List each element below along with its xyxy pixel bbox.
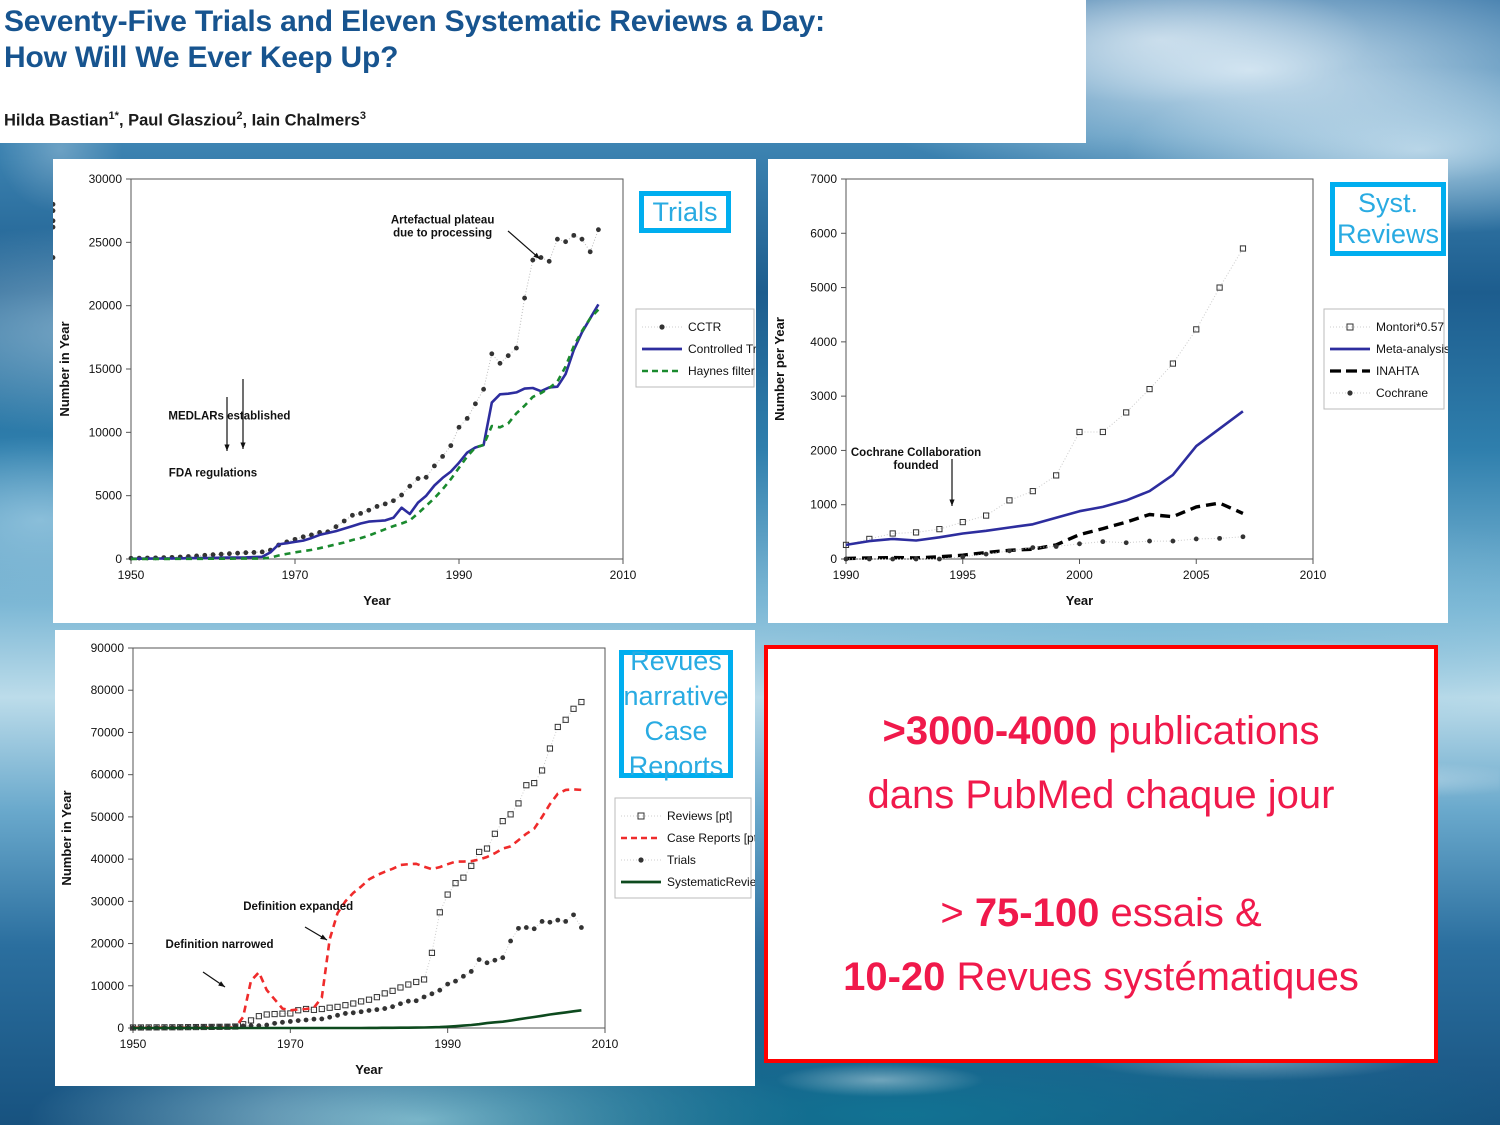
svg-text:70000: 70000 xyxy=(91,725,125,739)
svg-text:40000: 40000 xyxy=(91,852,125,866)
paper-title-line2: How Will We Ever Keep Up? xyxy=(4,40,1079,76)
svg-text:Definition expanded: Definition expanded xyxy=(243,901,353,913)
svg-text:Year: Year xyxy=(363,593,390,608)
callout-line-2: dans PubMed chaque jour xyxy=(868,763,1335,827)
author-2-name: Paul Glasziou xyxy=(128,112,236,130)
callout-line1-bold: >3000-4000 xyxy=(882,709,1097,753)
svg-text:5000: 5000 xyxy=(95,489,122,503)
svg-text:1995: 1995 xyxy=(949,568,976,582)
svg-text:Reviews [pt]: Reviews [pt] xyxy=(667,809,732,823)
svg-text:MEDLARs established: MEDLARs established xyxy=(168,411,290,423)
paper-title-line1: Seventy-Five Trials and Eleven Systemati… xyxy=(4,4,1079,40)
svg-text:Year: Year xyxy=(355,1062,382,1077)
callout-box-pubmed-stats: >3000-4000 publications dans PubMed chaq… xyxy=(764,645,1438,1063)
label-syst-reviews-line2: Reviews xyxy=(1337,219,1439,250)
svg-text:Montori*0.57: Montori*0.57 xyxy=(1376,320,1444,334)
label-revues-line3: Case xyxy=(644,714,707,749)
svg-text:Number in Year: Number in Year xyxy=(59,790,74,885)
svg-text:20000: 20000 xyxy=(91,937,125,951)
svg-text:due to processing: due to processing xyxy=(393,227,492,239)
svg-text:15000: 15000 xyxy=(89,362,123,376)
svg-text:30000: 30000 xyxy=(91,894,125,908)
svg-text:2005: 2005 xyxy=(1183,568,1210,582)
svg-text:Cochrane Collaboration: Cochrane Collaboration xyxy=(851,447,981,459)
callout-line-3: > 75-100 essais & xyxy=(940,881,1261,945)
svg-text:10000: 10000 xyxy=(89,425,123,439)
label-box-revues-case-reports: Revues narrative Case Reports xyxy=(619,650,733,778)
callout-line-1: >3000-4000 publications xyxy=(882,699,1319,763)
callout-line1-rest: publications xyxy=(1097,709,1319,753)
svg-text:Cochrane: Cochrane xyxy=(1376,386,1428,400)
svg-text:1970: 1970 xyxy=(277,1037,304,1051)
svg-text:Case Reports [pt]: Case Reports [pt] xyxy=(667,831,755,845)
label-syst-reviews-line1: Syst. xyxy=(1358,188,1418,219)
svg-text:50000: 50000 xyxy=(91,810,125,824)
svg-text:25000: 25000 xyxy=(89,235,123,249)
callout-line3-pre: > xyxy=(940,891,974,935)
svg-text:Definition narrowed: Definition narrowed xyxy=(166,939,274,951)
svg-text:1990: 1990 xyxy=(833,568,860,582)
callout-line4-rest: Revues systématiques xyxy=(945,955,1359,999)
paper-title-band: Seventy-Five Trials and Eleven Systemati… xyxy=(0,0,1086,143)
svg-text:SystematicReviews: SystematicReviews xyxy=(667,875,755,889)
svg-text:30000: 30000 xyxy=(89,172,123,186)
svg-text:Trials: Trials xyxy=(667,853,696,867)
label-trials-text: Trials xyxy=(653,197,718,228)
author-1-sup: 1* xyxy=(109,110,119,122)
author-3-name: Iain Chalmers xyxy=(252,112,360,130)
svg-text:10000: 10000 xyxy=(91,979,125,993)
svg-text:2010: 2010 xyxy=(1300,568,1327,582)
svg-text:90000: 90000 xyxy=(91,641,125,655)
svg-text:Number in Year: Number in Year xyxy=(57,321,72,416)
svg-text:Artefactual plateau: Artefactual plateau xyxy=(391,214,495,226)
author-2-sup: 2 xyxy=(236,110,242,122)
callout-line3-bold: 75-100 xyxy=(975,891,1100,935)
svg-text:CCTR: CCTR xyxy=(688,320,722,334)
callout-line-4: 10-20 Revues systématiques xyxy=(843,945,1359,1009)
label-revues-line2: narrative xyxy=(623,679,728,714)
svg-text:1000: 1000 xyxy=(810,498,837,512)
label-revues-line4: Reports xyxy=(629,749,724,784)
svg-text:1990: 1990 xyxy=(446,568,473,582)
svg-text:1990: 1990 xyxy=(434,1037,461,1051)
svg-text:2000: 2000 xyxy=(1066,568,1093,582)
svg-text:80000: 80000 xyxy=(91,683,125,697)
svg-text:4000: 4000 xyxy=(810,335,837,349)
author-1-name: Hilda Bastian xyxy=(4,112,109,130)
svg-text:5000: 5000 xyxy=(810,281,837,295)
svg-text:0: 0 xyxy=(117,1021,124,1035)
paper-authors: Hilda Bastian1*, Paul Glasziou2, Iain Ch… xyxy=(4,110,366,131)
svg-text:3000: 3000 xyxy=(810,389,837,403)
svg-text:2000: 2000 xyxy=(810,443,837,457)
svg-text:2010: 2010 xyxy=(610,568,637,582)
svg-text:20000: 20000 xyxy=(89,299,123,313)
page-title: Seventy-Five Trials and Eleven Systemati… xyxy=(4,4,1079,76)
svg-text:INAHTA: INAHTA xyxy=(1376,364,1419,378)
label-box-trials: Trials xyxy=(639,191,731,233)
svg-text:Haynes filter: Haynes filter xyxy=(688,364,755,378)
svg-text:Number per Year: Number per Year xyxy=(772,317,787,421)
author-3-sup: 3 xyxy=(360,110,366,122)
svg-text:0: 0 xyxy=(115,552,122,566)
svg-text:1950: 1950 xyxy=(120,1037,147,1051)
svg-text:Meta-analysis [PT]: Meta-analysis [PT] xyxy=(1376,342,1448,356)
svg-text:1970: 1970 xyxy=(282,568,309,582)
svg-text:6000: 6000 xyxy=(810,226,837,240)
svg-text:FDA regulations: FDA regulations xyxy=(169,468,257,480)
svg-text:Year: Year xyxy=(1066,593,1093,608)
label-box-syst-reviews: Syst. Reviews xyxy=(1330,182,1446,256)
callout-line4-bold: 10-20 xyxy=(843,955,945,999)
svg-text:1950: 1950 xyxy=(118,568,145,582)
svg-text:2010: 2010 xyxy=(592,1037,619,1051)
svg-text:Controlled Trials: Controlled Trials xyxy=(688,342,756,356)
svg-text:7000: 7000 xyxy=(810,172,837,186)
svg-text:0: 0 xyxy=(830,552,837,566)
label-revues-line1: Revues xyxy=(630,644,722,679)
svg-text:founded: founded xyxy=(893,460,938,472)
svg-text:60000: 60000 xyxy=(91,768,125,782)
callout-line3-rest: essais & xyxy=(1099,891,1261,935)
